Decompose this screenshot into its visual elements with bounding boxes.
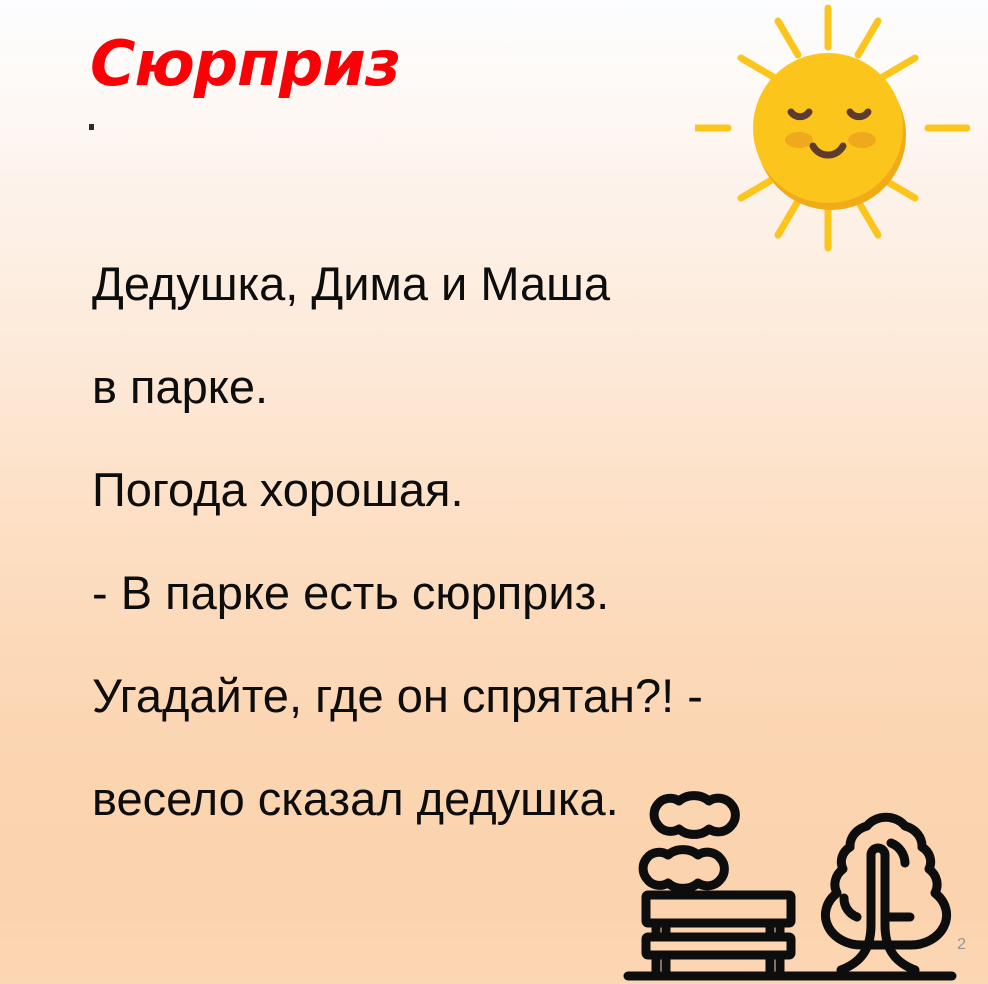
page-number: 2: [957, 936, 966, 954]
body-text-block: Дедушка, Дима и Маша в парке. Погода хор…: [92, 232, 922, 850]
park-scene-icon: [620, 765, 980, 984]
body-line: в парке.: [92, 335, 922, 438]
slide-title: Сюрприз: [90, 33, 400, 95]
sun-body: [753, 53, 903, 203]
sun-illustration: [695, 0, 970, 270]
sun-ray-8: [741, 178, 775, 198]
body-line: - В парке есть сюрприз.: [92, 541, 922, 644]
cloud-icon-1: [654, 796, 735, 835]
sun-ray-7: [778, 201, 798, 235]
sun-ray-10: [741, 58, 775, 78]
body-line: Угадайте, где он спрятан?! -: [92, 644, 922, 747]
tree-highlight-2: [844, 898, 857, 917]
sun-ray-1: [858, 21, 878, 55]
sun-icon: [695, 0, 970, 270]
park-illustration: [620, 765, 980, 984]
tree-trunk-top: [871, 848, 885, 855]
cloud-icon-2: [643, 850, 724, 889]
slide-canvas: Сюрприз: [0, 0, 988, 984]
body-line: Дедушка, Дима и Маша: [92, 232, 922, 335]
title-period-mark: [89, 124, 94, 130]
tree-highlight-1: [891, 843, 905, 863]
sun-ray-2: [881, 58, 915, 78]
body-line: Погода хорошая.: [92, 438, 922, 541]
sun-ray-11: [778, 21, 798, 55]
sun-ray-5: [858, 201, 878, 235]
sun-cheek-right: [848, 132, 876, 148]
sun-cheek-left: [785, 132, 813, 148]
